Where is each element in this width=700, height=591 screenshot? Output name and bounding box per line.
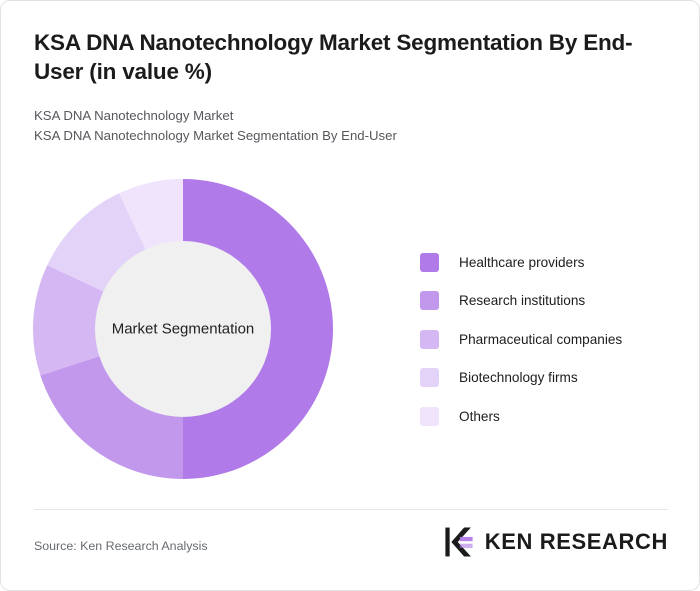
legend-item[interactable]: Others [420,397,670,436]
chart-header: KSA DNA Nanotechnology Market Segmentati… [34,29,654,146]
ken-research-logo-icon [442,525,476,559]
legend-item-label: Pharmaceutical companies [459,332,622,347]
brand-name: KEN RESEARCH [485,529,668,555]
chart-card: KSA DNA Nanotechnology Market Segmentati… [0,0,700,591]
legend-swatch-icon [420,330,439,349]
legend-swatch-icon [420,291,439,310]
legend-item-label: Healthcare providers [459,255,584,270]
page-title: KSA DNA Nanotechnology Market Segmentati… [34,29,654,87]
legend-swatch-icon [420,368,439,387]
legend-item-label: Others [459,409,500,424]
legend-item[interactable]: Research institutions [420,282,670,321]
legend-item-label: Research institutions [459,293,585,308]
donut-svg: Market Segmentation [33,179,333,479]
brand-logo: KEN RESEARCH [442,525,668,559]
footer-divider [34,509,668,510]
subtitle-group: KSA DNA Nanotechnology Market KSA DNA Na… [34,106,654,146]
subtitle-line-1: KSA DNA Nanotechnology Market [34,106,654,126]
legend-item-label: Biotechnology firms [459,370,578,385]
legend-item[interactable]: Healthcare providers [420,243,670,282]
donut-center-label: Market Segmentation [112,321,255,338]
legend-item[interactable]: Pharmaceutical companies [420,320,670,359]
legend-swatch-icon [420,253,439,272]
source-note: Source: Ken Research Analysis [34,539,208,553]
donut-chart: Market Segmentation [33,179,333,479]
legend-item[interactable]: Biotechnology firms [420,359,670,398]
subtitle-line-2: KSA DNA Nanotechnology Market Segmentati… [34,126,654,146]
legend-swatch-icon [420,407,439,426]
chart-legend: Healthcare providers Research institutio… [420,243,670,436]
chart-area: Market Segmentation Healthcare providers… [1,161,700,506]
